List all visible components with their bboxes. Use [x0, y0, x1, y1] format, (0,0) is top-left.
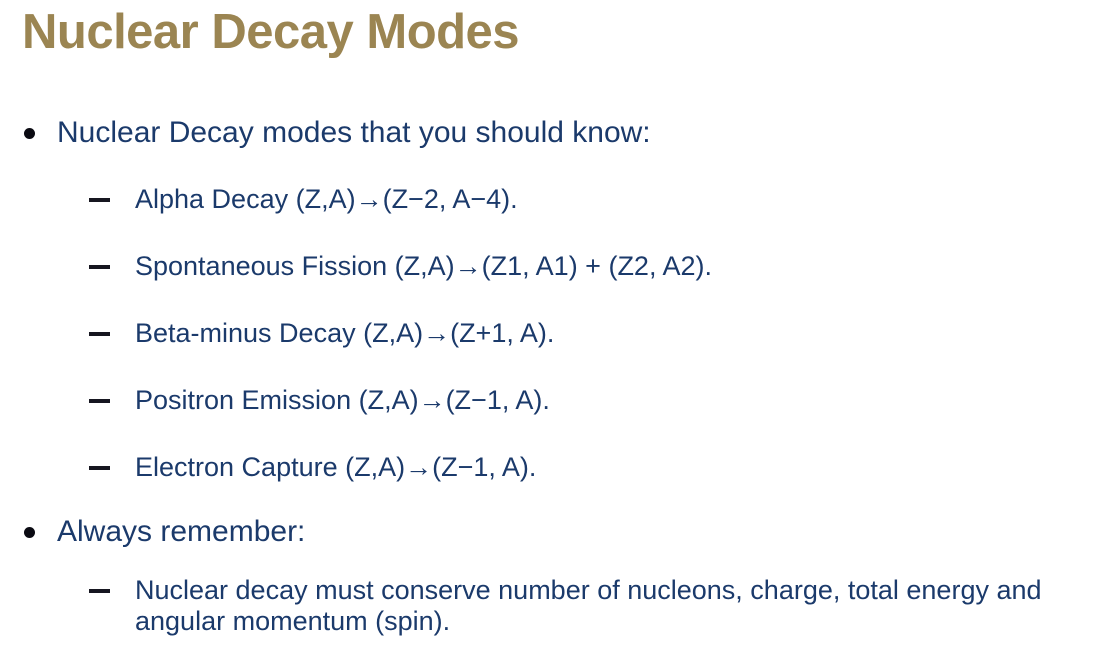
dash-marker-icon — [89, 265, 110, 269]
sub-bullet-item-beta-minus-decay: Beta-minus Decay (Z,A)→(Z+1, A). — [0, 318, 1118, 349]
bullet-label: Always remember: — [57, 515, 305, 548]
dash-marker-icon — [89, 198, 110, 202]
dash-marker-icon — [89, 466, 110, 470]
spacer — [0, 349, 1118, 385]
page-title: Nuclear Decay Modes — [22, 2, 519, 62]
dash-marker-icon — [89, 589, 110, 593]
sub-bullet-label: Beta-minus Decay (Z,A)→(Z+1, A). — [135, 318, 1095, 349]
slide-body: Nuclear Decay modes that you should know… — [0, 118, 1118, 637]
sub-bullet-item-spontaneous-fission: Spontaneous Fission (Z,A)→(Z1, A1) + (Z2… — [0, 251, 1118, 282]
bullet-dot-icon — [24, 128, 35, 139]
slide: Nuclear Decay Modes Nuclear Decay modes … — [0, 0, 1118, 663]
spacer — [0, 416, 1118, 452]
sub-bullet-item-conservation-rule: Nuclear decay must conserve number of nu… — [0, 575, 1118, 637]
dash-marker-icon — [89, 399, 110, 403]
sub-bullet-item-alpha-decay: Alpha Decay (Z,A)→(Z−2, A−4). — [0, 184, 1118, 215]
bullet-label: Nuclear Decay modes that you should know… — [57, 116, 651, 149]
bullet-item-primary: Always remember: — [0, 517, 1118, 547]
spacer — [0, 547, 1118, 575]
spacer — [0, 215, 1118, 251]
sub-bullet-label: Nuclear decay must conserve number of nu… — [135, 575, 1095, 637]
sub-bullet-label: Alpha Decay (Z,A)→(Z−2, A−4). — [135, 184, 1095, 215]
sub-bullet-item-electron-capture: Electron Capture (Z,A)→(Z−1, A). — [0, 452, 1118, 483]
sub-bullet-label: Spontaneous Fission (Z,A)→(Z1, A1) + (Z2… — [135, 251, 1095, 282]
sub-bullet-label: Electron Capture (Z,A)→(Z−1, A). — [135, 452, 1095, 483]
sub-bullet-item-positron-emission: Positron Emission (Z,A)→(Z−1, A). — [0, 385, 1118, 416]
dash-marker-icon — [89, 332, 110, 336]
spacer — [0, 483, 1118, 517]
bullet-dot-icon — [24, 527, 35, 538]
sub-bullet-label: Positron Emission (Z,A)→(Z−1, A). — [135, 385, 1095, 416]
bullet-item-primary: Nuclear Decay modes that you should know… — [0, 118, 1118, 148]
spacer — [0, 282, 1118, 318]
spacer — [0, 148, 1118, 184]
